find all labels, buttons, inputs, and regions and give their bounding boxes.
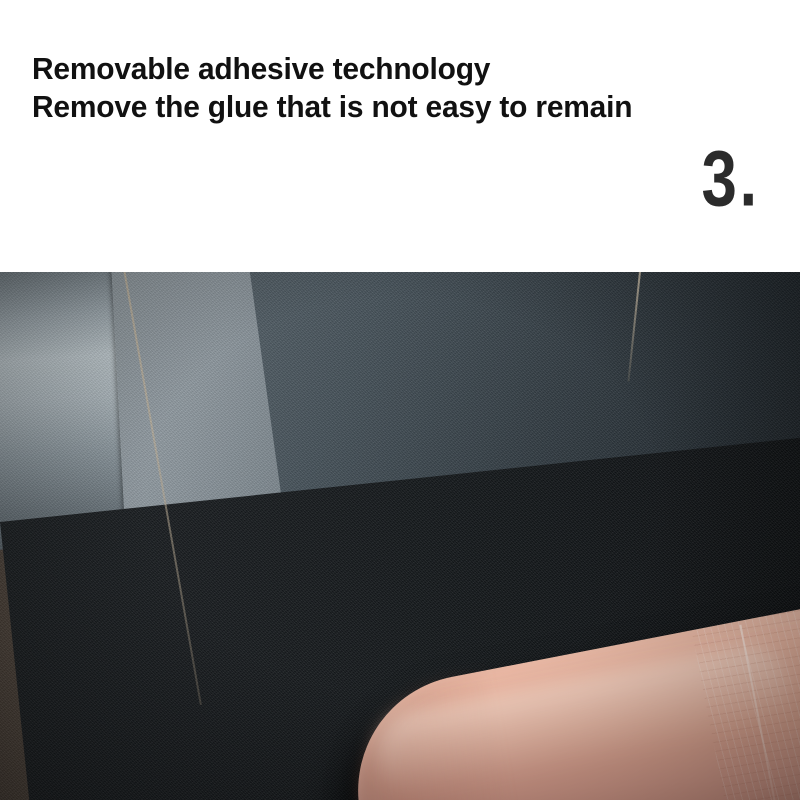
product-photo: Easier mouse replacement and protection bbox=[0, 272, 800, 800]
headline-block: Removable adhesive technology Remove the… bbox=[32, 50, 732, 126]
step-number: 3. bbox=[702, 140, 760, 218]
headline-line-2: Remove the glue that is not easy to rema… bbox=[32, 88, 708, 126]
headline-line-1: Removable adhesive technology bbox=[32, 50, 708, 88]
header-band: Removable adhesive technology Remove the… bbox=[0, 0, 800, 272]
product-feature-slide: Removable adhesive technology Remove the… bbox=[0, 0, 800, 800]
